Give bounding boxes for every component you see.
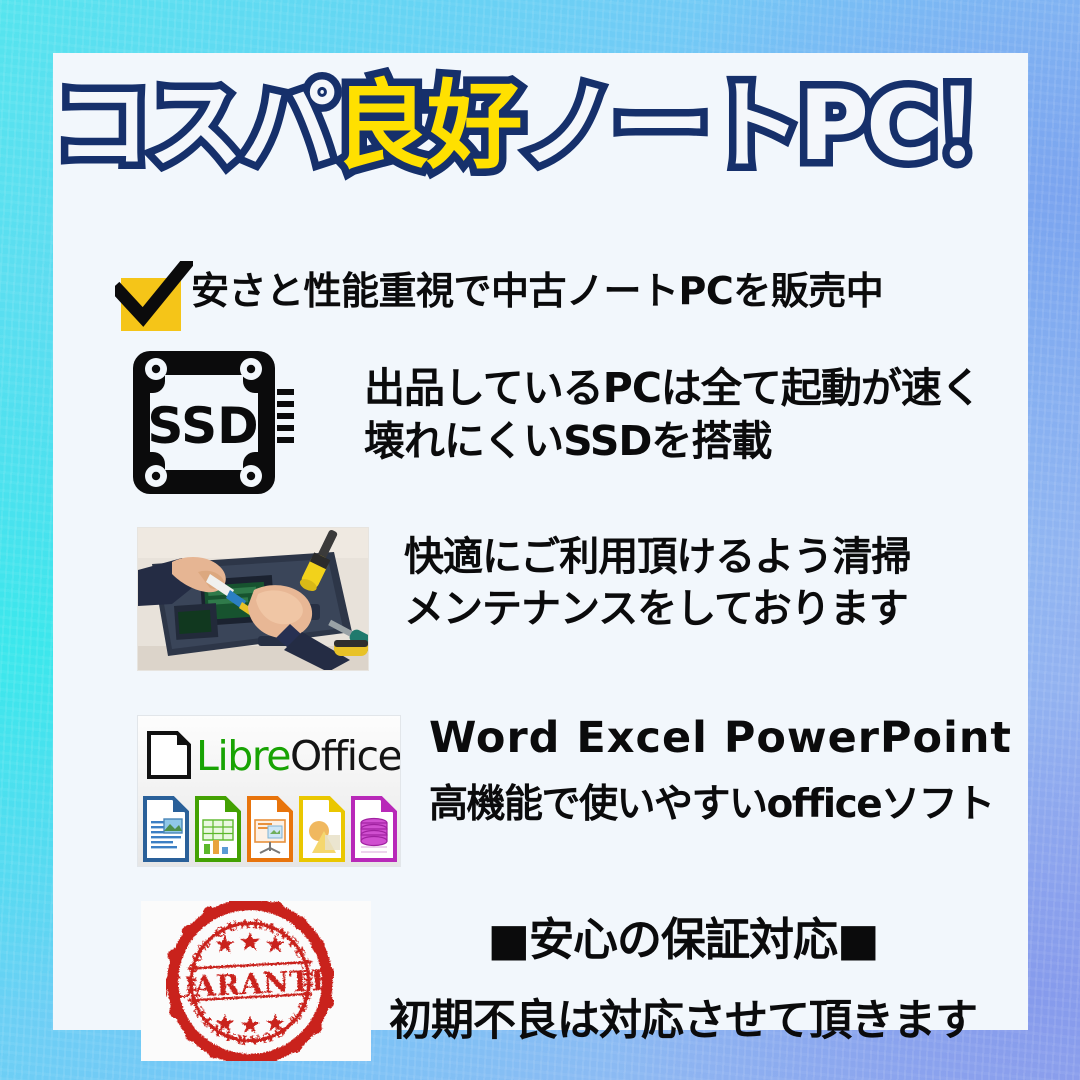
feature-row-ssd: SSD 出品しているPCは全て起動が速く 壊れにくいSSDを搭載 <box>131 345 981 500</box>
libreoffice-app-icons <box>142 795 398 863</box>
calc-icon <box>194 795 242 863</box>
impress-icon <box>246 795 294 863</box>
libreoffice-word-office: Office <box>290 732 401 780</box>
check-tick-icon <box>115 261 193 331</box>
feature-pricing-text: 安さと性能重視で中古ノートPCを販売中 <box>191 267 883 316</box>
feature-maintenance-line1: 快適にご利用頂けるよう清掃 <box>404 531 910 583</box>
guarantee-stamp-graphic: ★ 100% GUARANTEED ★ ★ 100% GUARANTEED ★ <box>166 901 334 1061</box>
feature-guarantee-text: ■安心の保証対応■ 初期不良は対応させて頂きます <box>389 903 977 1048</box>
content-card: コスパ良好ノートPC！ 安さと性能重視で中古ノートPCを販売中 <box>53 53 1028 1030</box>
office-apps-list: Word Excel PowerPoint <box>429 713 1012 763</box>
base-icon <box>350 795 398 863</box>
feature-maintenance-line2: メンテナンスをしております <box>404 583 910 635</box>
feature-office-text: Word Excel PowerPoint 高機能で使いやすいofficeソフト <box>429 713 1012 829</box>
feature-row-maintenance: 快適にご利用頂けるよう清掃 メンテナンスをしております <box>137 527 910 671</box>
feature-maintenance-text: 快適にご利用頂けるよう清掃 メンテナンスをしております <box>404 531 910 635</box>
page-title: コスパ良好ノートPC！ <box>53 75 1028 179</box>
feature-row-office: LibreOffice <box>137 715 1012 867</box>
laptop-repair-illustration <box>138 528 369 671</box>
guarantee-subtitle: 初期不良は対応させて頂きます <box>389 986 977 1048</box>
laptop-repair-photo <box>137 527 369 671</box>
libreoffice-word-libre: Libre <box>196 732 290 780</box>
guarantee-headline: ■安心の保証対応■ <box>389 903 977 968</box>
feature-ssd-text: 出品しているPCは全て起動が速く 壊れにくいSSDを搭載 <box>364 362 981 469</box>
feature-row-guarantee: ★ 100% GUARANTEED ★ ★ 100% GUARANTEED ★ <box>141 901 977 1061</box>
feature-row-pricing: 安さと性能重視で中古ノートPCを販売中 <box>113 261 883 331</box>
feature-ssd-line1: 出品しているPCは全て起動が速く <box>364 362 981 415</box>
ssd-drive-icon: SSD <box>131 345 296 500</box>
draw-icon <box>298 795 346 863</box>
libreoffice-document-icon <box>146 730 192 780</box>
feature-ssd-line2: 壊れにくいSSDを搭載 <box>364 415 981 468</box>
writer-icon <box>142 795 190 863</box>
office-subtitle: 高機能で使いやすいofficeソフト <box>429 773 1012 829</box>
title-part-3: ノートPC！ <box>520 70 1027 182</box>
ssd-icon-label: SSD <box>147 397 258 455</box>
libreoffice-wordmark: LibreOffice <box>196 732 401 780</box>
title-part-1: コスパ <box>55 70 334 182</box>
libreoffice-logo: LibreOffice <box>137 715 401 867</box>
guarantee-stamp: ★ 100% GUARANTEED ★ ★ 100% GUARANTEED ★ <box>141 901 371 1061</box>
title-part-2-highlight: 良好 <box>334 70 520 182</box>
poster-background: コスパ良好ノートPC！ 安さと性能重視で中古ノートPCを販売中 <box>0 0 1080 1080</box>
check-mark-icon <box>113 269 185 331</box>
